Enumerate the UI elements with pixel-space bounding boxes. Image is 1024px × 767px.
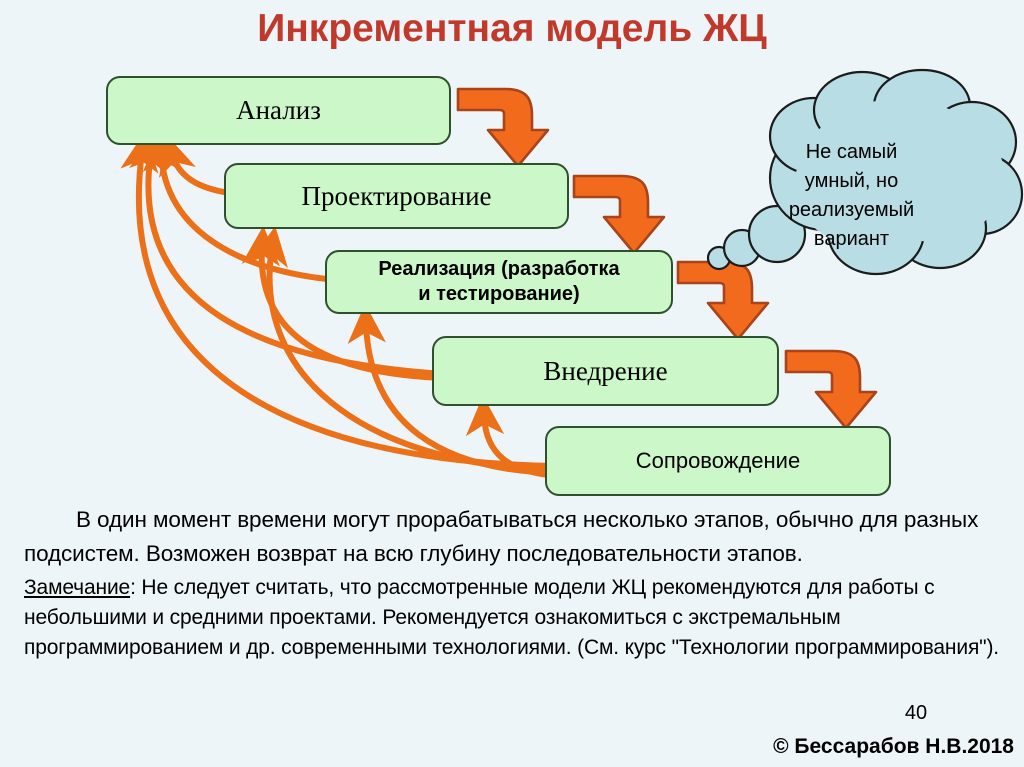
slide-number: 40 bbox=[896, 702, 936, 725]
body-text-block: В один момент времени могут прорабатыват… bbox=[24, 503, 1004, 663]
slide-canvas: Инкрементная модель ЖЦ bbox=[0, 0, 1024, 767]
flow-arrow-deploy-to-maintain bbox=[786, 351, 876, 428]
cloud-line-2: умный, но bbox=[744, 167, 959, 196]
stage-box-deploy[interactable]: Внедрение bbox=[432, 336, 779, 406]
note-body: : Не следует считать, что рассмотренные … bbox=[24, 576, 999, 659]
stage-label-deploy: Внедрение bbox=[543, 356, 667, 387]
note-label: Замечание bbox=[24, 576, 130, 599]
cloud-line-1: Не самый bbox=[744, 138, 959, 167]
thought-cloud-text: Не самый умный, но реализуемый вариант bbox=[744, 138, 959, 254]
stage-label-implement: Реализация (разработка и тестирование) bbox=[378, 257, 619, 307]
copyright-notice: © Бессарабов Н.В.2018 bbox=[773, 735, 1014, 759]
stage-label-maintain: Сопровождение bbox=[636, 448, 800, 474]
flow-arrow-design-to-implement bbox=[574, 176, 664, 253]
paragraph-one: В один момент времени могут прорабатыват… bbox=[24, 503, 1004, 570]
stage-box-analysis[interactable]: Анализ bbox=[106, 76, 451, 145]
stage-label-design: Проектирование bbox=[301, 181, 491, 212]
stage-label-analysis: Анализ bbox=[236, 95, 321, 126]
stage-box-maintain[interactable]: Сопровождение bbox=[545, 426, 891, 496]
page-title: Инкрементная модель ЖЦ bbox=[0, 6, 1024, 52]
stage-label-implement-line2: и тестирование) bbox=[418, 283, 579, 305]
stage-label-implement-line1: Реализация (разработка bbox=[378, 258, 619, 280]
incremental-model-diagram: Не самый умный, но реализуемый вариант А… bbox=[0, 56, 1024, 506]
cloud-line-3: реализуемый bbox=[744, 196, 959, 225]
stage-box-design[interactable]: Проектирование bbox=[224, 163, 569, 229]
flow-arrow-analysis-to-design bbox=[458, 89, 548, 166]
cloud-line-4: вариант bbox=[744, 225, 959, 254]
stage-box-implement[interactable]: Реализация (разработка и тестирование) bbox=[325, 250, 673, 314]
paragraph-two: Замечание: Не следует считать, что рассм… bbox=[24, 573, 1004, 663]
